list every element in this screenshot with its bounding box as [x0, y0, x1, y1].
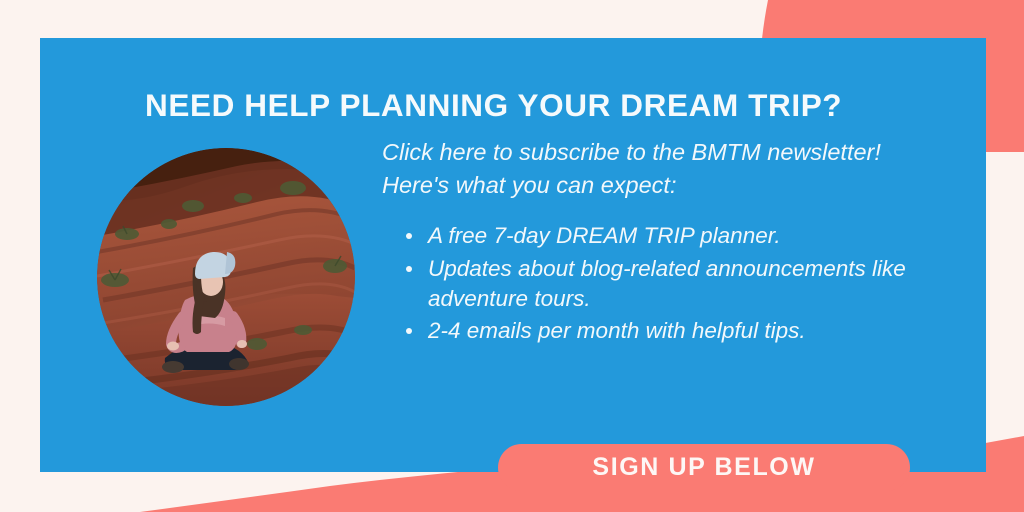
list-item: Updates about blog-related announcements… — [428, 254, 952, 314]
promo-content: Click here to subscribe to the BMTM news… — [382, 136, 952, 349]
intro-text: Click here to subscribe to the BMTM news… — [382, 136, 952, 203]
intro-line-1: Click here to subscribe to the BMTM news… — [382, 136, 952, 169]
list-item: A free 7-day DREAM TRIP planner. — [428, 221, 952, 251]
meditation-photo — [97, 148, 355, 406]
list-item: 2-4 emails per month with helpful tips. — [428, 316, 952, 346]
sign-up-button[interactable]: SIGN UP BELOW — [498, 444, 910, 491]
promo-panel: NEED HELP PLANNING YOUR DREAM TRIP? — [40, 38, 986, 472]
avatar — [97, 148, 355, 406]
cta-container: SIGN UP BELOW — [498, 444, 910, 491]
benefits-list: A free 7-day DREAM TRIP planner. Updates… — [382, 221, 952, 347]
intro-line-2: Here's what you can expect: — [382, 169, 952, 202]
page-title: NEED HELP PLANNING YOUR DREAM TRIP? — [145, 87, 945, 124]
